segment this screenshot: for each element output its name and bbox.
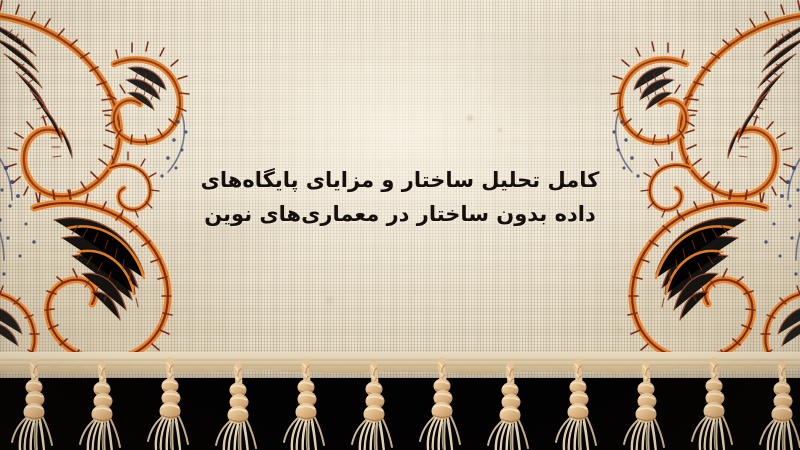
page-title: کامل تحلیل ساختار و مزایای پایگاه‌های دا… [0,163,800,231]
banner-canvas: کامل تحلیل ساختار و مزایای پایگاه‌های دا… [0,0,800,450]
